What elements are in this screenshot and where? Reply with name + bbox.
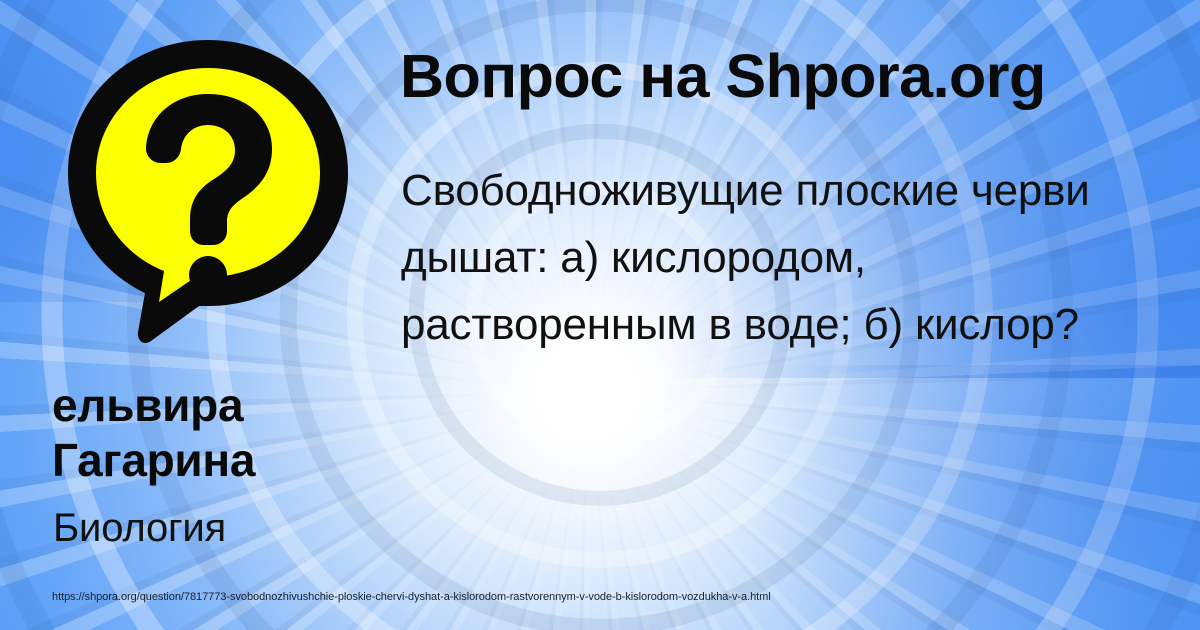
question-text: Свободноживущие плоские черви дышат: а) …: [401, 157, 1171, 358]
share-card: Вопрос на Shpora.org Свободноживущие пло…: [0, 0, 1200, 630]
source-url[interactable]: https://shpora.org/question/7817773-svob…: [52, 591, 771, 603]
page-title: Вопрос на Shpora.org: [400, 44, 1180, 108]
question-speech-bubble-icon: [58, 32, 358, 352]
author-name: ельвира Гагарина: [52, 378, 412, 488]
subject-label: Биология: [53, 505, 413, 551]
card-content: Вопрос на Shpora.org Свободноживущие пло…: [0, 0, 1200, 630]
